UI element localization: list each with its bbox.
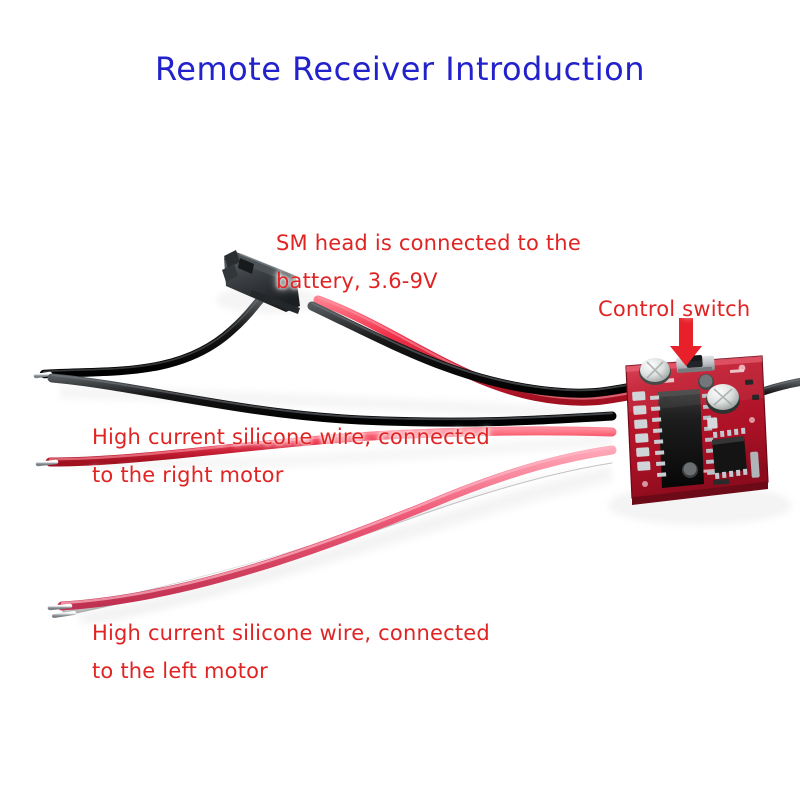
annotation-left-motor-wire: High current silicone wire, connected to… (92, 614, 490, 690)
annotation-control-switch: Control switch (598, 290, 750, 328)
battery-tail-black-wire (44, 300, 260, 374)
annotation-battery-connection: SM head is connected to the battery, 3.6… (276, 224, 581, 300)
image-canvas: Remote Receiver Introduction SM head is … (0, 0, 800, 800)
page-title: Remote Receiver Introduction (0, 50, 800, 88)
left-motor-red-tinned-end (50, 606, 70, 608)
right-motor-red-tinned-end (38, 462, 56, 464)
left-motor-white-tinned-end (54, 613, 74, 616)
receiver-pcb (626, 355, 768, 505)
battery-red-wire (318, 300, 628, 401)
annotation-right-motor-wire: High current silicone wire, connected to… (92, 418, 490, 494)
